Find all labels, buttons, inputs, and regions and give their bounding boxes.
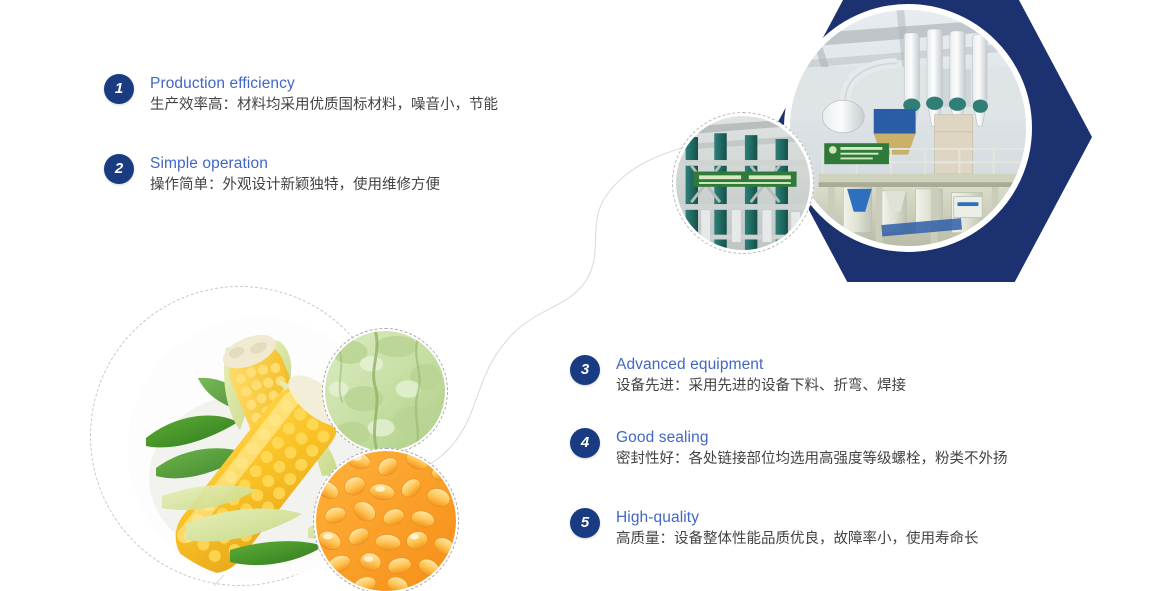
feature-description-5: 高质量：设备整体性能品质优良，故障率小，使用寿命长 <box>616 529 979 550</box>
feature-title-2: Simple operation <box>150 154 440 174</box>
feature-badge-3: 3 <box>570 355 600 385</box>
feature-text-3: Advanced equipment 设备先进：采用先进的设备下料、折弯、焊接 <box>616 355 906 397</box>
feature-badge-5: 5 <box>570 508 600 538</box>
flour-mill-plant-photo <box>784 4 1032 252</box>
feature-text-5: High-quality 高质量：设备整体性能品质优良，故障率小，使用寿命长 <box>616 508 979 550</box>
green-milling-machine-photo <box>672 112 814 254</box>
feature-item-2[interactable]: 2 Simple operation 操作简单：外观设计新颖独特，使用维修方便 <box>104 154 440 196</box>
feature-description-1: 生产效率高：材料均采用优质国标材料，噪音小，节能 <box>150 95 498 116</box>
feature-badge-1: 1 <box>104 74 134 104</box>
feature-description-3: 设备先进：采用先进的设备下料、折弯、焊接 <box>616 376 906 397</box>
feature-infographic: 1 Production efficiency 生产效率高：材料均采用优质国标材… <box>0 0 1154 591</box>
feature-title-4: Good sealing <box>616 428 1008 448</box>
feature-title-5: High-quality <box>616 508 979 528</box>
feature-description-4: 密封性好：各处链接部位均选用高强度等级螺栓，粉类不外扬 <box>616 449 1008 470</box>
feature-item-4[interactable]: 4 Good sealing 密封性好：各处链接部位均选用高强度等级螺栓，粉类不… <box>570 428 1008 470</box>
orange-corn-kernels-photo <box>313 448 459 591</box>
feature-text-2: Simple operation 操作简单：外观设计新颖独特，使用维修方便 <box>150 154 440 196</box>
feature-text-1: Production efficiency 生产效率高：材料均采用优质国标材料，… <box>150 74 498 116</box>
feature-text-4: Good sealing 密封性好：各处链接部位均选用高强度等级螺栓，粉类不外扬 <box>616 428 1008 470</box>
feature-description-2: 操作简单：外观设计新颖独特，使用维修方便 <box>150 175 440 196</box>
green-dough-photo <box>322 328 448 454</box>
feature-badge-2: 2 <box>104 154 134 184</box>
feature-item-1[interactable]: 1 Production efficiency 生产效率高：材料均采用优质国标材… <box>104 74 498 116</box>
feature-item-3[interactable]: 3 Advanced equipment 设备先进：采用先进的设备下料、折弯、焊… <box>570 355 906 397</box>
feature-title-1: Production efficiency <box>150 74 498 94</box>
feature-title-3: Advanced equipment <box>616 355 906 375</box>
feature-item-5[interactable]: 5 High-quality 高质量：设备整体性能品质优良，故障率小，使用寿命长 <box>570 508 979 550</box>
feature-badge-4: 4 <box>570 428 600 458</box>
